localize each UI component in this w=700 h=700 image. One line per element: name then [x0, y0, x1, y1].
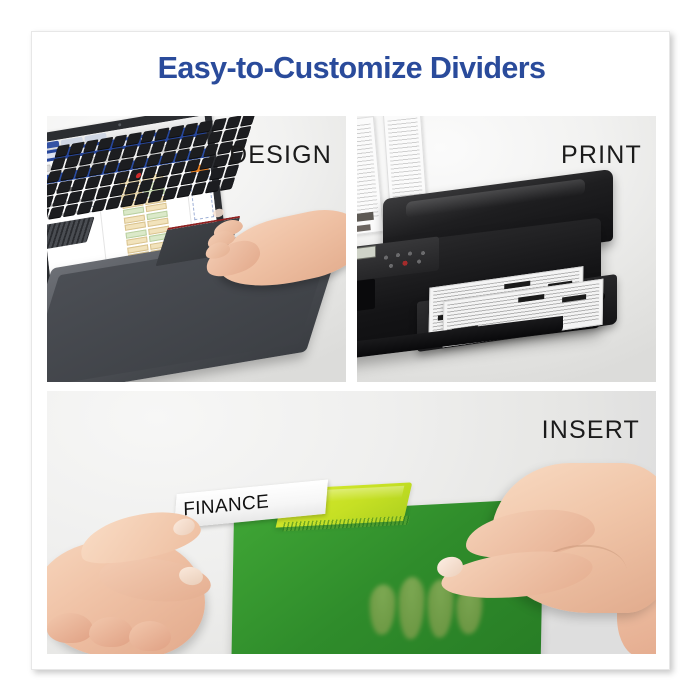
printer-icon: [357, 138, 643, 382]
panel-insert: FINANCE: [47, 391, 656, 654]
panel-print: PRINT: [357, 116, 656, 382]
panel-caption-design: DESIGN: [229, 141, 332, 170]
hand-on-touchpad: [179, 204, 346, 314]
product-card: Easy-to-Customize Dividers: [31, 31, 670, 670]
panel-caption-print: PRINT: [561, 141, 642, 170]
panel-design: DESIGN: [47, 116, 346, 382]
printer-cartridge-slot: [357, 279, 375, 312]
page-title: Easy-to-Customize Dividers: [32, 51, 671, 86]
right-hand: [447, 449, 656, 654]
left-hand: [47, 511, 237, 654]
panel-caption-insert: INSERT: [542, 416, 640, 445]
product-feature-image: Easy-to-Customize Dividers: [0, 0, 700, 700]
